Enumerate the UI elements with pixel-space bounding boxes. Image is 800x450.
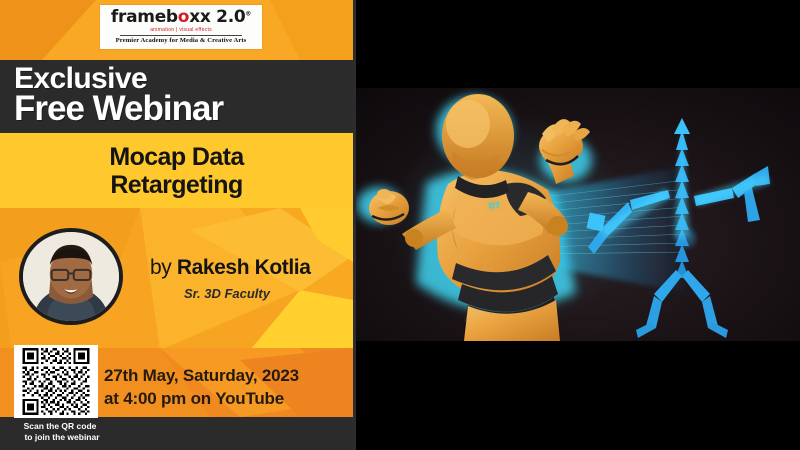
character-chest-tag: DT (489, 200, 502, 210)
logo-wordmark-text: frameboxx 2.0 (111, 7, 246, 27)
poster-banner: Exclusive Free Webinar (0, 60, 353, 133)
letterbox-bottom (356, 341, 800, 450)
logo-wordmark: frameboxx 2.0® (111, 9, 251, 26)
webinar-title-line-1: Mocap Data (109, 143, 243, 171)
screenshot-root: frameboxx 2.0® animation | visual effect… (0, 0, 800, 450)
frameboxx-logo: frameboxx 2.0® animation | visual effect… (100, 5, 262, 49)
speaker-by-label: by (150, 256, 177, 279)
video-stage: DT (356, 88, 800, 341)
logo-registered-icon: ® (245, 10, 251, 17)
webinar-poster: frameboxx 2.0® animation | visual effect… (0, 0, 353, 450)
schedule-line-2: at 4:00 pm on YouTube (104, 389, 284, 409)
speaker-photo-icon (23, 232, 119, 322)
banner-line-2: Free Webinar (14, 91, 223, 126)
poster-top-band: frameboxx 2.0® animation | visual effect… (0, 0, 353, 60)
poster-title-band: Mocap Data Retargeting (0, 133, 353, 208)
letterbox-top (356, 0, 800, 88)
mocap-scene-icon (356, 88, 800, 341)
qr-caption-line-1: Scan the QR code (12, 421, 108, 432)
webinar-title-line-2: Retargeting (110, 171, 242, 199)
speaker-role: Sr. 3D Faculty (184, 286, 270, 301)
qr-caption-line-2: to join the webinar (12, 432, 112, 443)
speaker-name: by Rakesh Kotlia (150, 256, 311, 280)
logo-tagline: animation | visual effects (150, 28, 212, 33)
logo-divider (120, 35, 242, 36)
qr-code[interactable] (14, 345, 98, 418)
video-panel[interactable]: DT (356, 0, 800, 450)
logo-subtitle: Premier Academy for Media & Creative Art… (116, 38, 247, 45)
speaker-name-text: Rakesh Kotlia (177, 256, 311, 279)
schedule-line-1: 27th May, Saturday, 2023 (104, 366, 299, 386)
avatar (19, 228, 123, 325)
qr-code-icon (17, 348, 95, 415)
